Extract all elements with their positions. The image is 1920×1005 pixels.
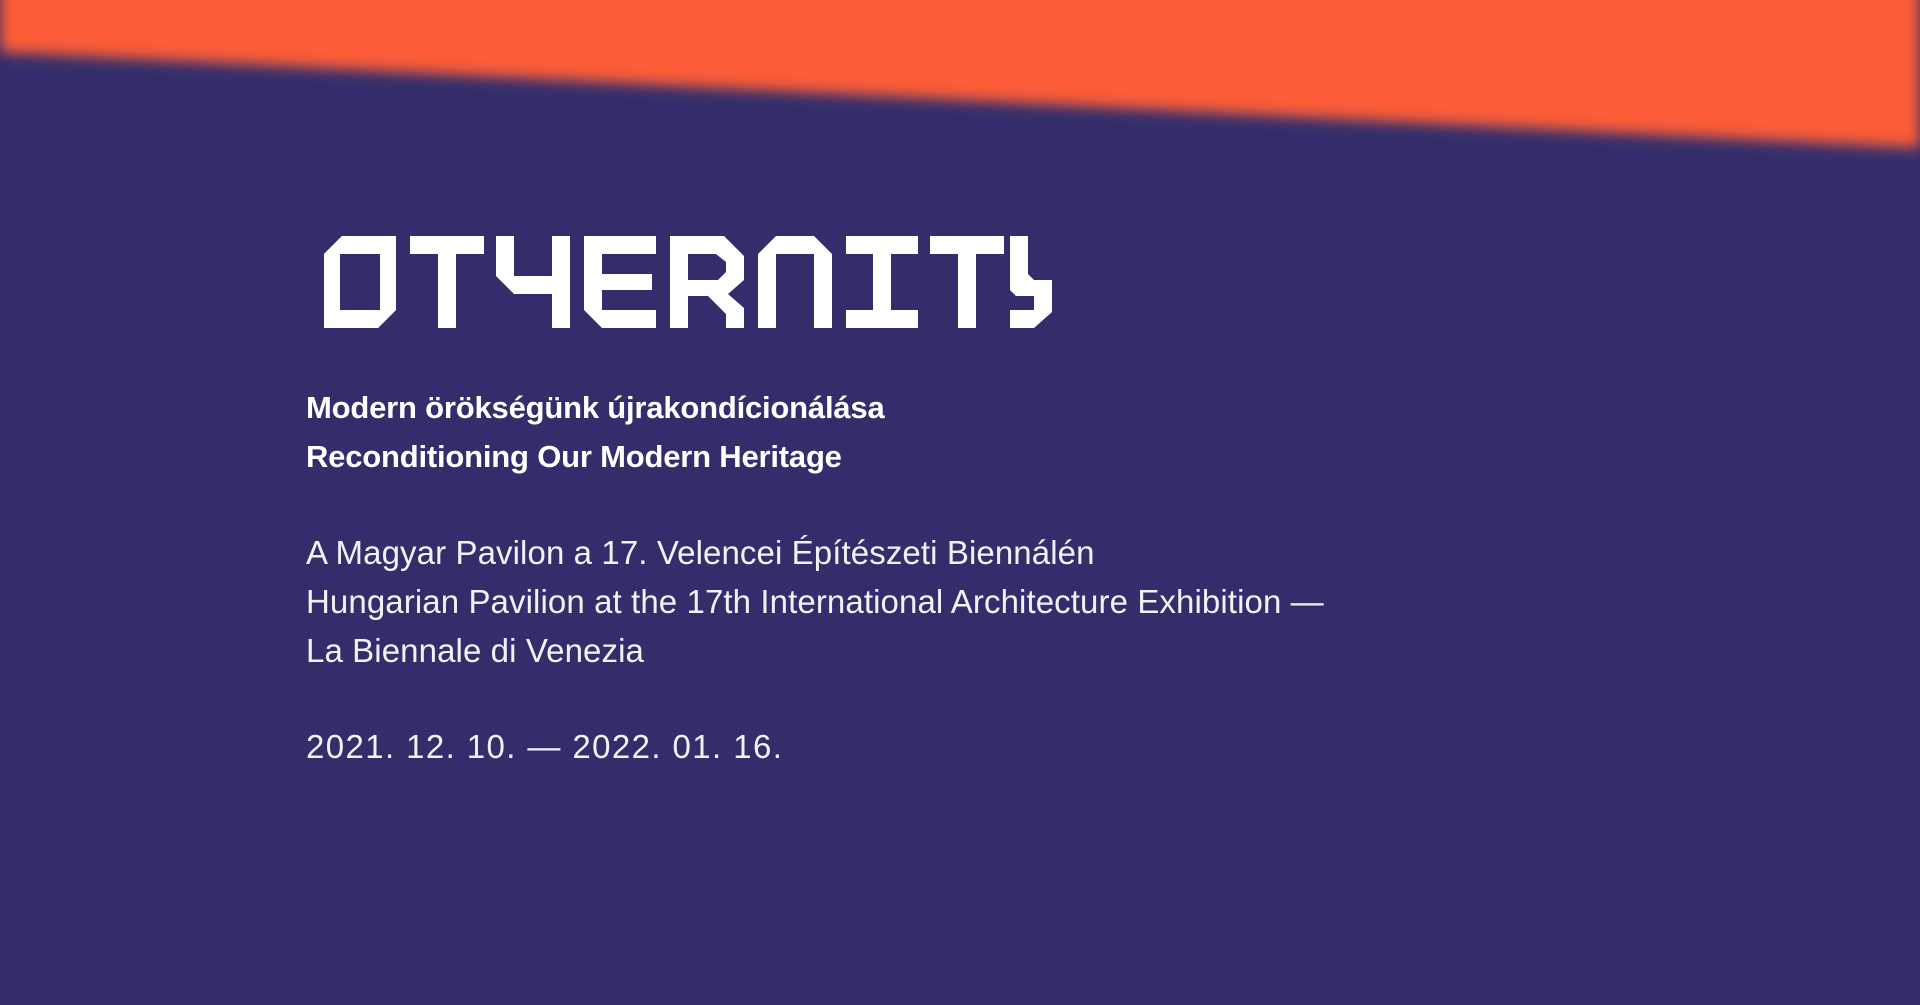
- othernity-logo: OTHERNITY: [304, 236, 1052, 328]
- orange-diagonal-band: [0, 0, 1920, 200]
- subtitle-line-hu: Modern örökségünk újrakondícionálása: [306, 383, 1706, 432]
- description-line-en-2: La Biennale di Venezia: [306, 626, 1706, 675]
- poster-content: OTHERNITY Modern örökségünk újrakondício…: [306, 236, 1706, 771]
- description-line-hu: A Magyar Pavilon a 17. Velencei Építésze…: [306, 528, 1706, 577]
- description-line-en-1: Hungarian Pavilion at the 17th Internati…: [306, 577, 1706, 626]
- subtitle-line-en: Reconditioning Our Modern Heritage: [306, 432, 1706, 481]
- poster-canvas: OTHERNITY Modern örökségünk újrakondício…: [0, 0, 1920, 1005]
- exhibition-date-range: 2021. 12. 10. — 2022. 01. 16.: [306, 722, 1706, 771]
- description-block: A Magyar Pavilon a 17. Velencei Építésze…: [306, 528, 1706, 675]
- subtitle-block: Modern örökségünk újrakondícionálása Rec…: [306, 383, 1706, 481]
